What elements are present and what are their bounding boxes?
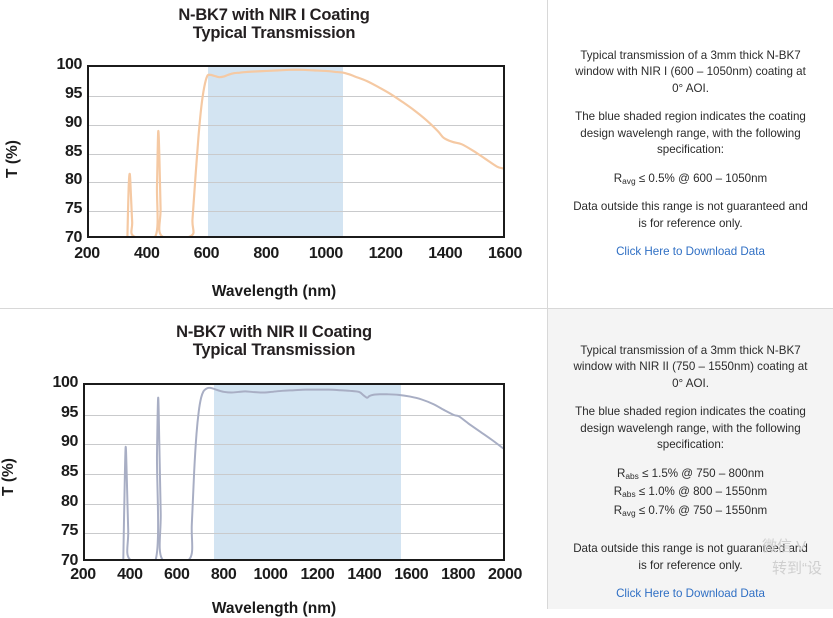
x-tick-1000: 1000	[309, 245, 343, 263]
y-tick-95: 95	[36, 404, 78, 422]
desc2-download-row: Click Here to Download Data	[570, 586, 811, 602]
y-tick-100: 100	[40, 56, 82, 74]
x-tick-1200: 1200	[300, 566, 334, 584]
x-tick-200: 200	[70, 566, 96, 584]
download-data-link-nir-ii[interactable]: Click Here to Download Data	[616, 586, 765, 602]
desc1-spec-list: Ravg ≤ 0.5% @ 600 – 1050nm	[570, 171, 811, 187]
chart2-title: N-BK7 with NIR II Coating Typical Transm…	[0, 323, 548, 360]
x-tick-800: 800	[253, 245, 279, 263]
x-tick-200: 200	[74, 245, 100, 263]
desc1-download-row: Click Here to Download Data	[570, 244, 811, 260]
x-tick-1200: 1200	[369, 245, 403, 263]
chart2-transmission-curve	[85, 385, 503, 559]
x-tick-600: 600	[194, 245, 220, 263]
chart2-plot-area	[83, 383, 505, 561]
y-tick-90: 90	[40, 114, 82, 132]
description-2-body: Typical transmission of a 3mm thick N-BK…	[570, 343, 811, 602]
chart-panel-nir-ii: N-BK7 with NIR II Coating Typical Transm…	[0, 309, 548, 609]
spec-line-0: Ravg ≤ 0.5% @ 600 – 1050nm	[570, 171, 811, 187]
description-panel-nir-ii: Typical transmission of a 3mm thick N-BK…	[548, 309, 833, 609]
y-tick-85: 85	[36, 463, 78, 481]
curve-path	[123, 388, 503, 559]
desc2-disclaimer: Data outside this range is not guarantee…	[570, 541, 811, 574]
download-data-link-nir-i[interactable]: Click Here to Download Data	[616, 244, 765, 260]
chart2-y-axis-label: T (%)	[0, 458, 18, 496]
desc1-shading-note: The blue shaded region indicates the coa…	[570, 109, 811, 158]
x-tick-1800: 1800	[441, 566, 475, 584]
chart2-title-line2: Typical Transmission	[0, 341, 548, 359]
x-tick-1600: 1600	[394, 566, 428, 584]
chart1-plot-area	[87, 65, 505, 238]
description-1-body: Typical transmission of a 3mm thick N-BK…	[570, 48, 811, 261]
x-tick-1000: 1000	[254, 566, 288, 584]
desc1-intro: Typical transmission of a 3mm thick N-BK…	[570, 48, 811, 97]
x-tick-400: 400	[134, 245, 160, 263]
chart-panel-nir-i: N-BK7 with NIR I Coating Typical Transmi…	[0, 0, 548, 309]
chart2-x-axis-label: Wavelength (nm)	[0, 600, 548, 618]
y-tick-90: 90	[36, 433, 78, 451]
y-tick-85: 85	[40, 143, 82, 161]
spec-line-1: Rabs ≤ 1.0% @ 800 – 1550nm	[570, 484, 811, 500]
chart2-title-line1: N-BK7 with NIR II Coating	[176, 323, 372, 341]
desc2-intro: Typical transmission of a 3mm thick N-BK…	[570, 343, 811, 392]
y-tick-80: 80	[40, 171, 82, 189]
chart1-x-axis-label: Wavelength (nm)	[0, 283, 548, 301]
y-tick-75: 75	[40, 200, 82, 218]
chart1-plot-frame	[87, 65, 505, 238]
x-tick-2000: 2000	[488, 566, 522, 584]
y-tick-75: 75	[36, 522, 78, 540]
chart1-title: N-BK7 with NIR I Coating Typical Transmi…	[0, 6, 548, 43]
chart1-transmission-curve	[89, 67, 503, 236]
desc1-disclaimer: Data outside this range is not guarantee…	[570, 199, 811, 232]
transmission-charts-page: N-BK7 with NIR I Coating Typical Transmi…	[0, 0, 833, 609]
curve-path	[127, 70, 503, 236]
x-tick-1600: 1600	[488, 245, 522, 263]
desc2-shading-note: The blue shaded region indicates the coa…	[570, 404, 811, 453]
desc2-spec-list: Rabs ≤ 1.5% @ 750 – 800nmRabs ≤ 1.0% @ 8…	[570, 466, 811, 519]
chart1-title-line2: Typical Transmission	[0, 24, 548, 42]
y-tick-100: 100	[36, 374, 78, 392]
chart2-plot-frame	[83, 383, 505, 561]
spec-line-0: Rabs ≤ 1.5% @ 750 – 800nm	[570, 466, 811, 482]
description-panel-nir-i: Typical transmission of a 3mm thick N-BK…	[548, 0, 833, 309]
y-tick-80: 80	[36, 493, 78, 511]
x-tick-1400: 1400	[347, 566, 381, 584]
chart1-y-axis-label: T (%)	[4, 140, 22, 178]
x-tick-1400: 1400	[428, 245, 462, 263]
x-tick-600: 600	[164, 566, 190, 584]
spec-line-2: Ravg ≤ 0.7% @ 750 – 1550nm	[570, 503, 811, 519]
chart1-title-line1: N-BK7 with NIR I Coating	[178, 6, 369, 24]
x-tick-800: 800	[211, 566, 237, 584]
y-tick-95: 95	[40, 85, 82, 103]
x-tick-400: 400	[117, 566, 143, 584]
